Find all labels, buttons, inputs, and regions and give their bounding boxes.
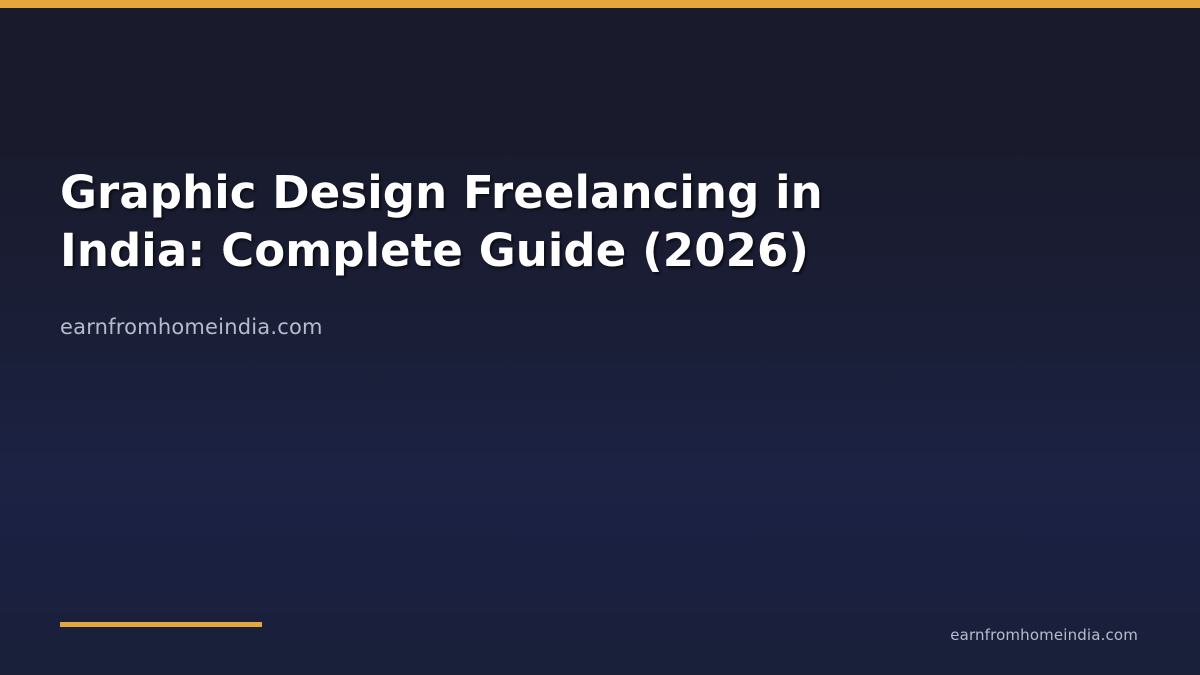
footer-brand: earnfromhomeindia.com [950,625,1138,645]
site-subtitle: earnfromhomeindia.com [60,280,1100,340]
bottom-accent-bar [60,622,262,627]
slide-content: Graphic Design Freelancing in India: Com… [60,164,1100,340]
page-title: Graphic Design Freelancing in India: Com… [60,164,960,280]
title-slide: Graphic Design Freelancing in India: Com… [0,0,1200,675]
top-accent-bar [0,0,1200,8]
